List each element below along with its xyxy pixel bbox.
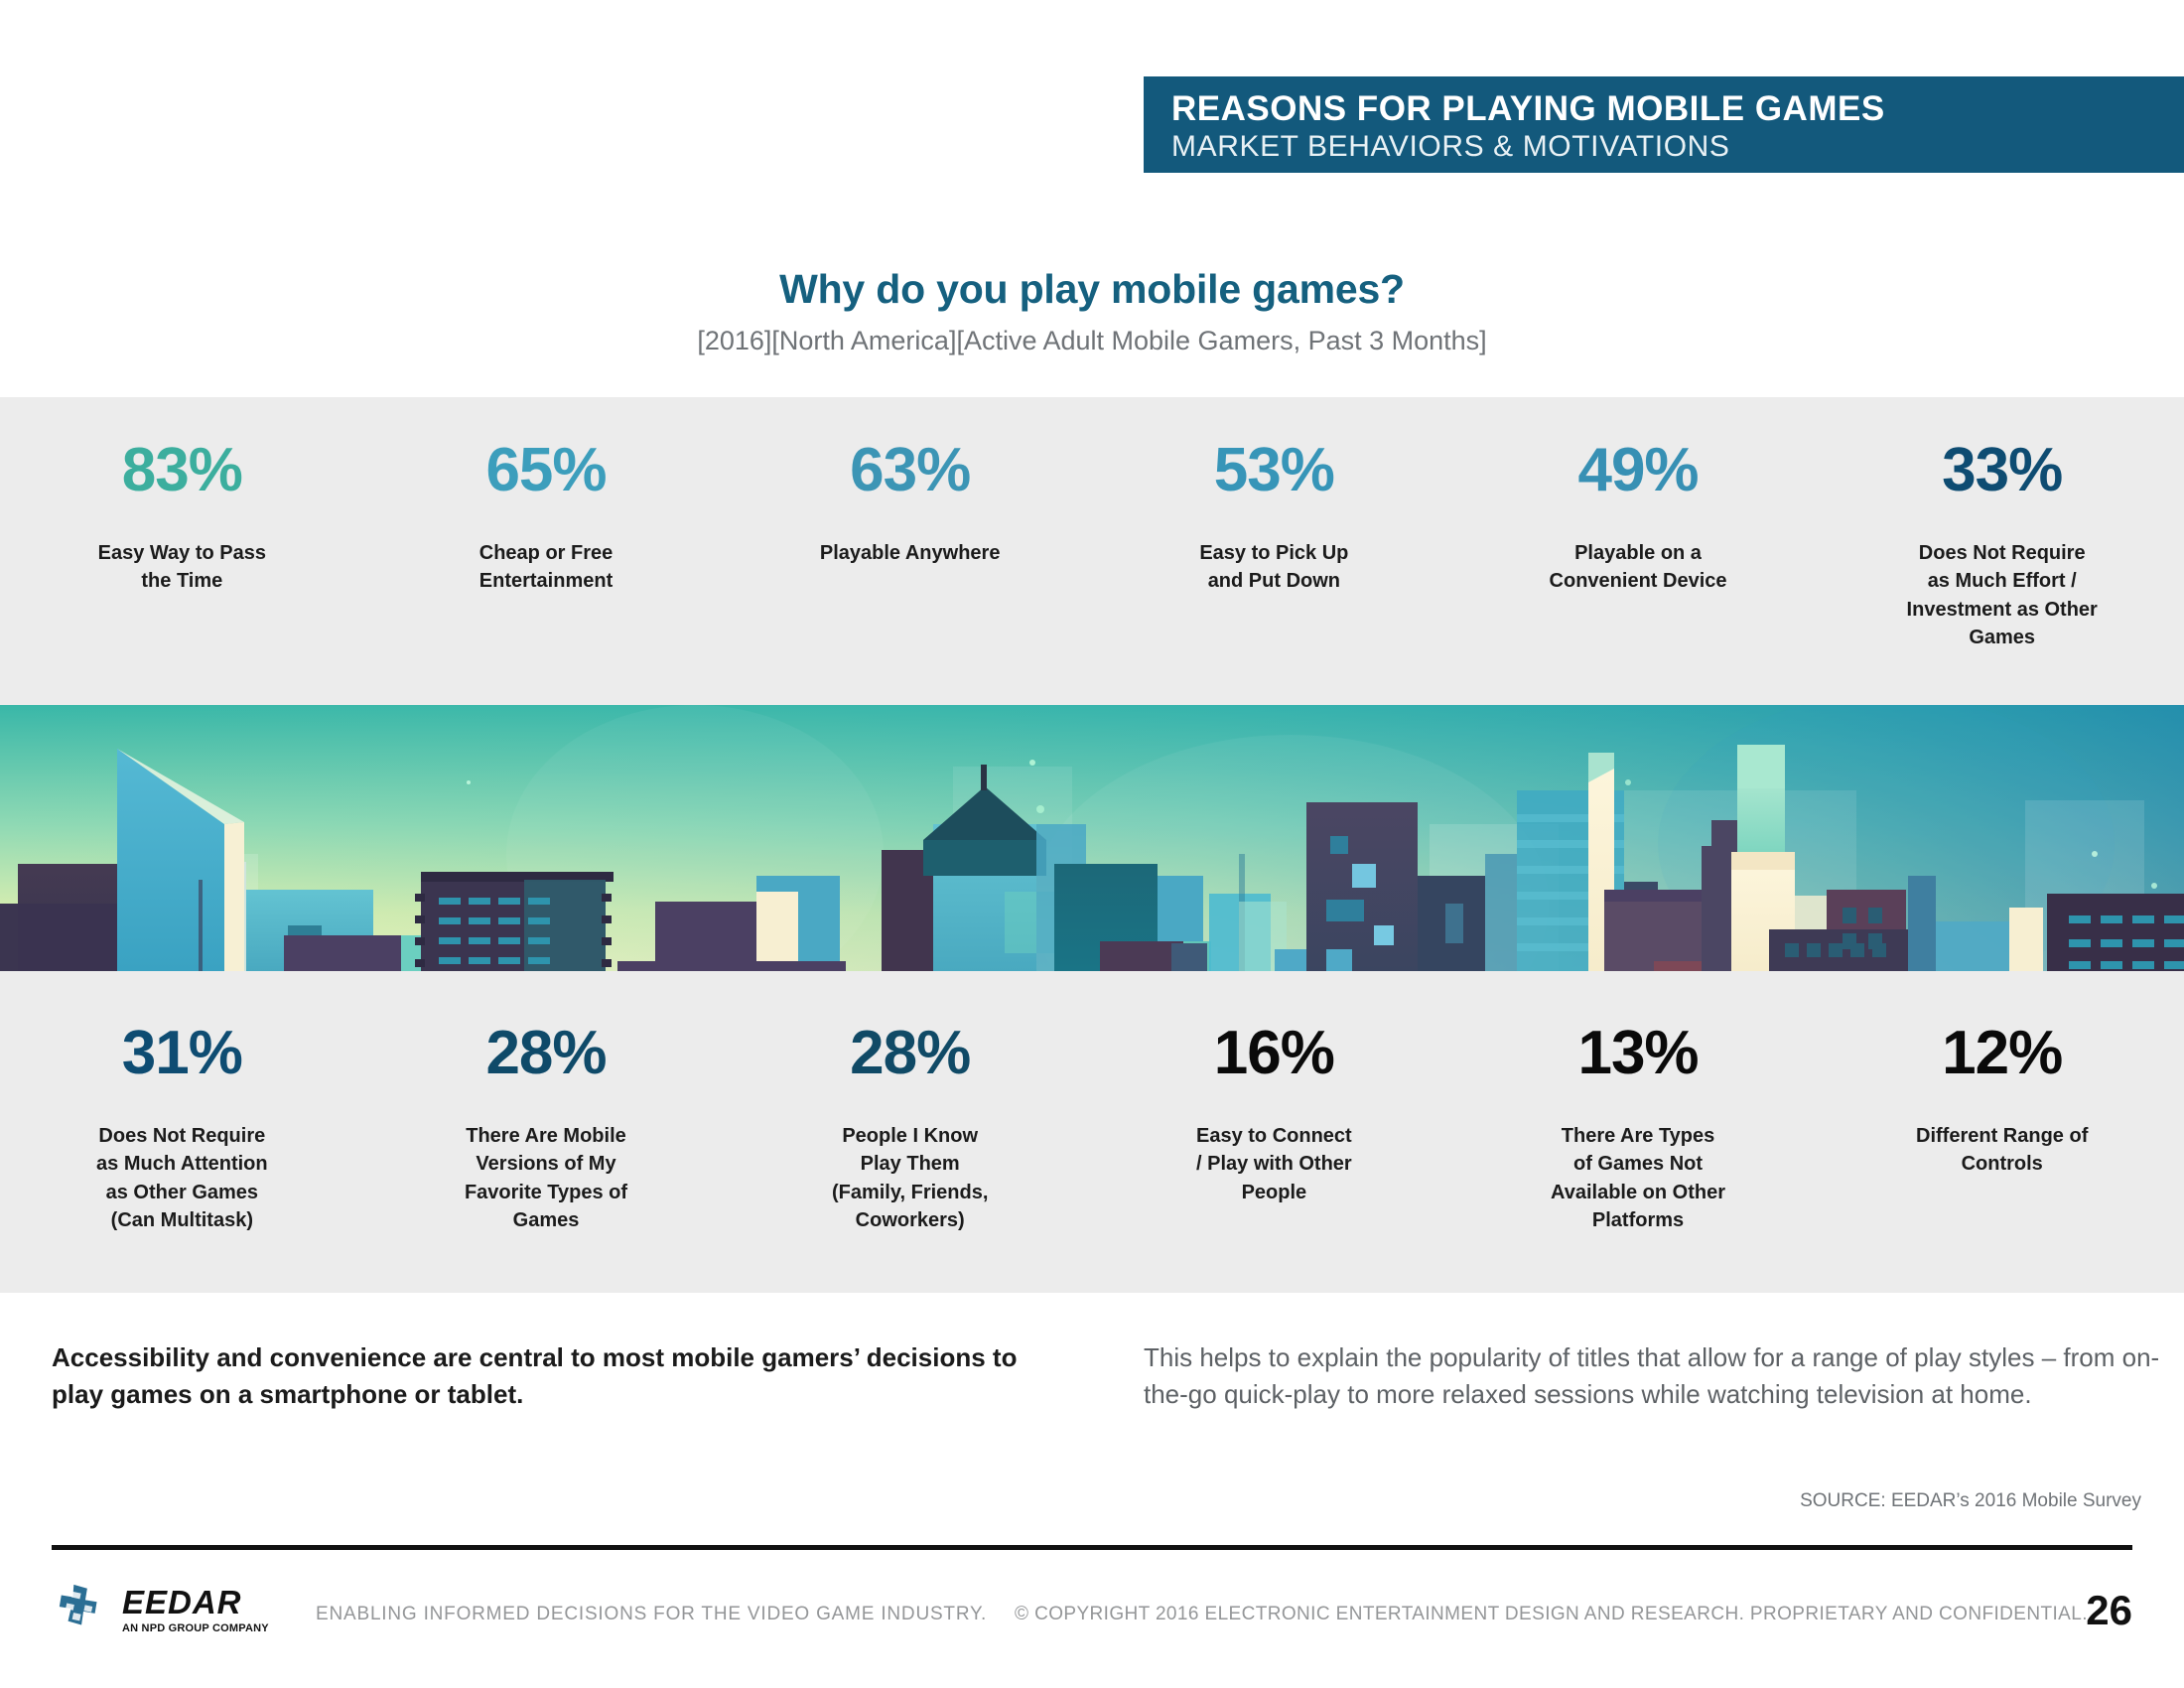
stat-cell: 28% There Are Mobile Versions of My Favo… bbox=[364, 1023, 729, 1235]
eedar-logo: EEDAR AN NPD GROUP COMPANY bbox=[55, 1581, 269, 1638]
stat-label: Easy Way to Pass the Time bbox=[18, 539, 346, 596]
page-qualifier: [2016][North America][Active Adult Mobil… bbox=[0, 326, 2184, 356]
stat-cell: 53% Easy to Pick Up and Put Down bbox=[1092, 440, 1456, 652]
stat-cell: 83% Easy Way to Pass the Time bbox=[0, 440, 364, 652]
stat-label: There Are Mobile Versions of My Favorite… bbox=[382, 1122, 711, 1235]
page-title: Why do you play mobile games? bbox=[0, 266, 2184, 313]
stat-value: 33% bbox=[1838, 440, 2166, 501]
stat-cell: 33% Does Not Require as Much Effort / In… bbox=[1820, 440, 2184, 652]
stat-cell: 13% There Are Types of Games Not Availab… bbox=[1456, 1023, 1821, 1235]
stat-value: 83% bbox=[18, 440, 346, 501]
stat-cell: 31% Does Not Require as Much Attention a… bbox=[0, 1023, 364, 1235]
cityscape-illustration bbox=[0, 705, 2184, 971]
stat-value: 16% bbox=[1110, 1023, 1438, 1084]
stat-label: Playable Anywhere bbox=[746, 539, 1074, 567]
stat-label: Does Not Require as Much Effort / Invest… bbox=[1838, 539, 2166, 652]
stat-cell: 49% Playable on a Convenient Device bbox=[1456, 440, 1821, 652]
stats-row-bottom: 31% Does Not Require as Much Attention a… bbox=[0, 1023, 2184, 1235]
stat-label: Cheap or Free Entertainment bbox=[382, 539, 711, 596]
dpad-logo-icon bbox=[55, 1581, 112, 1638]
slide: REASONS FOR PLAYING MOBILE GAMES MARKET … bbox=[0, 0, 2184, 1688]
footer: EEDAR AN NPD GROUP COMPANY ENABLING INFO… bbox=[0, 1559, 2184, 1668]
stat-cell: 16% Easy to Connect / Play with Other Pe… bbox=[1092, 1023, 1456, 1235]
stat-value: 53% bbox=[1110, 440, 1438, 501]
summary-right: This helps to explain the popularity of … bbox=[1144, 1339, 2184, 1414]
stat-value: 28% bbox=[382, 1023, 711, 1084]
stat-value: 63% bbox=[746, 440, 1074, 501]
stat-cell: 12% Different Range of Controls bbox=[1820, 1023, 2184, 1235]
source-note: SOURCE: EEDAR’s 2016 Mobile Survey bbox=[0, 1490, 2141, 1512]
footer-tagline: ENABLING INFORMED DECISIONS FOR THE VIDE… bbox=[316, 1604, 987, 1625]
stat-label: Easy to Connect / Play with Other People bbox=[1110, 1122, 1438, 1206]
summary-left: Accessibility and convenience are centra… bbox=[52, 1339, 1054, 1414]
stat-value: 12% bbox=[1838, 1023, 2166, 1084]
logo-name: EEDAR bbox=[122, 1586, 269, 1618]
stat-value: 65% bbox=[382, 440, 711, 501]
header-title: REASONS FOR PLAYING MOBILE GAMES bbox=[1171, 90, 2184, 128]
footer-copyright: © COPYRIGHT 2016 ELECTRONIC ENTERTAINMEN… bbox=[1015, 1604, 2088, 1625]
stat-value: 28% bbox=[746, 1023, 1074, 1084]
stat-cell: 28% People I Know Play Them (Family, Fri… bbox=[728, 1023, 1092, 1235]
stat-value: 49% bbox=[1474, 440, 1803, 501]
logo-text: EEDAR AN NPD GROUP COMPANY bbox=[122, 1586, 269, 1634]
stat-label: There Are Types of Games Not Available o… bbox=[1474, 1122, 1803, 1235]
stat-cell: 63% Playable Anywhere bbox=[728, 440, 1092, 652]
stats-row-top: 83% Easy Way to Pass the Time 65% Cheap … bbox=[0, 440, 2184, 652]
stat-label: Different Range of Controls bbox=[1838, 1122, 2166, 1179]
logo-tagline: AN NPD GROUP COMPANY bbox=[122, 1622, 269, 1634]
stat-cell: 65% Cheap or Free Entertainment bbox=[364, 440, 729, 652]
header-banner: REASONS FOR PLAYING MOBILE GAMES MARKET … bbox=[1144, 76, 2184, 173]
stat-label: Easy to Pick Up and Put Down bbox=[1110, 539, 1438, 596]
stat-value: 31% bbox=[18, 1023, 346, 1084]
page-number: 26 bbox=[2086, 1587, 2132, 1634]
stat-value: 13% bbox=[1474, 1023, 1803, 1084]
stat-label: People I Know Play Them (Family, Friends… bbox=[746, 1122, 1074, 1235]
header-subtitle: MARKET BEHAVIORS & MOTIVATIONS bbox=[1171, 130, 2184, 164]
stat-label: Does Not Require as Much Attention as Ot… bbox=[18, 1122, 346, 1235]
stat-label: Playable on a Convenient Device bbox=[1474, 539, 1803, 596]
footer-divider bbox=[52, 1545, 2132, 1550]
